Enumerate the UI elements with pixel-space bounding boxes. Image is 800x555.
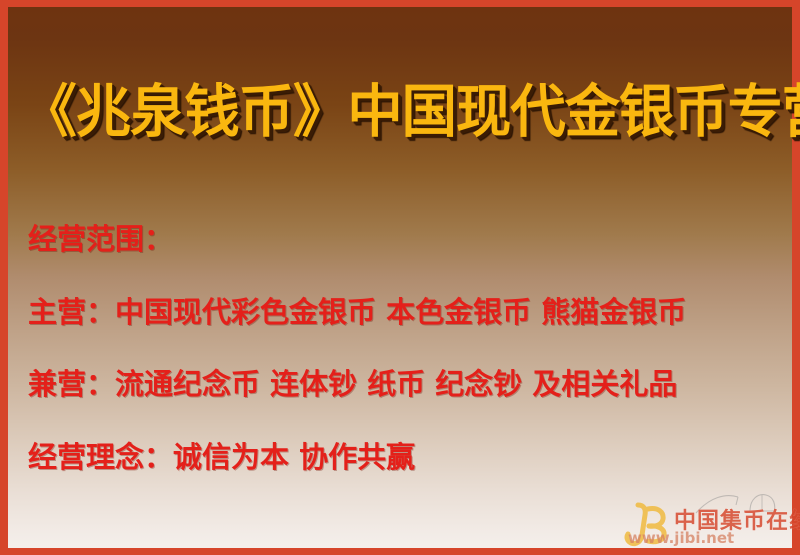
- banner-title-block: 《兆泉钱币》中国现代金银币专营店: [8, 78, 792, 146]
- watermark-site-url: www.jibi.net: [628, 529, 734, 547]
- secondary-business-line: 兼营：流通纪念币 连体钞 纸币 纪念钞 及相关礼品: [28, 367, 677, 401]
- business-philosophy-line: 经营理念：诚信为本 协作共赢: [28, 440, 415, 474]
- primary-business-line: 主营：中国现代彩色金银币 本色金银币 熊猫金银币: [28, 295, 686, 329]
- shop-title: 《兆泉钱币》中国现代金银币专营店: [21, 78, 800, 146]
- advertisement-banner: 《兆泉钱币》中国现代金银币专营店 经营范围： 主营：中国现代彩色金银币 本色金银…: [0, 0, 800, 555]
- site-watermark: 中国集币在线 www.jibi.net: [622, 493, 790, 551]
- business-scope-heading: 经营范围：: [28, 222, 173, 256]
